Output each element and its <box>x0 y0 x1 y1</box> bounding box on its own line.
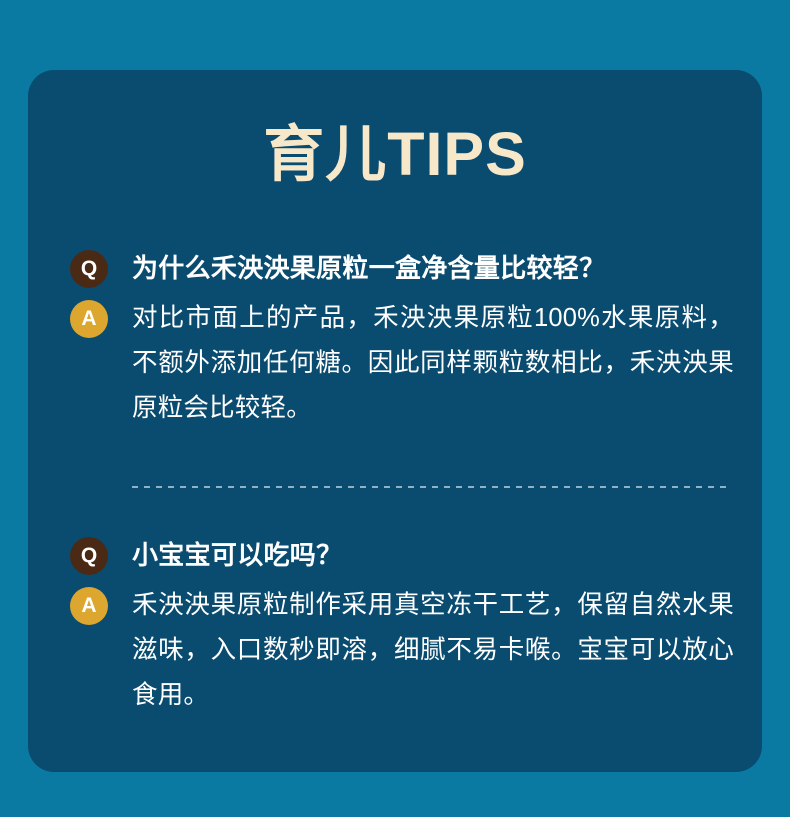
faq-question-row-1: Q 为什么禾泱泱果原粒一盒净含量比较轻？ <box>28 246 762 290</box>
faq-card: 育儿TIPS Q 为什么禾泱泱果原粒一盒净含量比较轻？ A 对比市面上的产品，禾… <box>28 70 762 772</box>
faq-answer-row-1: A 对比市面上的产品，禾泱泱果原粒100%水果原料，不额外添加任何糖。因此同样颗… <box>28 296 762 431</box>
faq-question-text-1: 为什么禾泱泱果原粒一盒净含量比较轻？ <box>28 246 762 290</box>
faq-answer-row-2: A 禾泱泱果原粒制作采用真空冻干工艺，保留自然水果滋味，入口数秒即溶，细腻不易卡… <box>28 583 762 718</box>
faq-answer-text-2: 禾泱泱果原粒制作采用真空冻干工艺，保留自然水果滋味，入口数秒即溶，细腻不易卡喉。… <box>28 583 762 718</box>
faq-item-1: Q 为什么禾泱泱果原粒一盒净含量比较轻？ A 对比市面上的产品，禾泱泱果原粒10… <box>28 246 762 431</box>
section-divider <box>132 486 732 488</box>
faq-question-row-2: Q 小宝宝可以吃吗？ <box>28 533 762 577</box>
page-title: 育儿TIPS <box>28 122 762 186</box>
page-background: 育儿TIPS Q 为什么禾泱泱果原粒一盒净含量比较轻？ A 对比市面上的产品，禾… <box>0 0 790 817</box>
faq-answer-text-1: 对比市面上的产品，禾泱泱果原粒100%水果原料，不额外添加任何糖。因此同样颗粒数… <box>28 296 762 431</box>
faq-item-2: Q 小宝宝可以吃吗？ A 禾泱泱果原粒制作采用真空冻干工艺，保留自然水果滋味，入… <box>28 533 762 718</box>
faq-question-text-2: 小宝宝可以吃吗？ <box>28 533 762 577</box>
